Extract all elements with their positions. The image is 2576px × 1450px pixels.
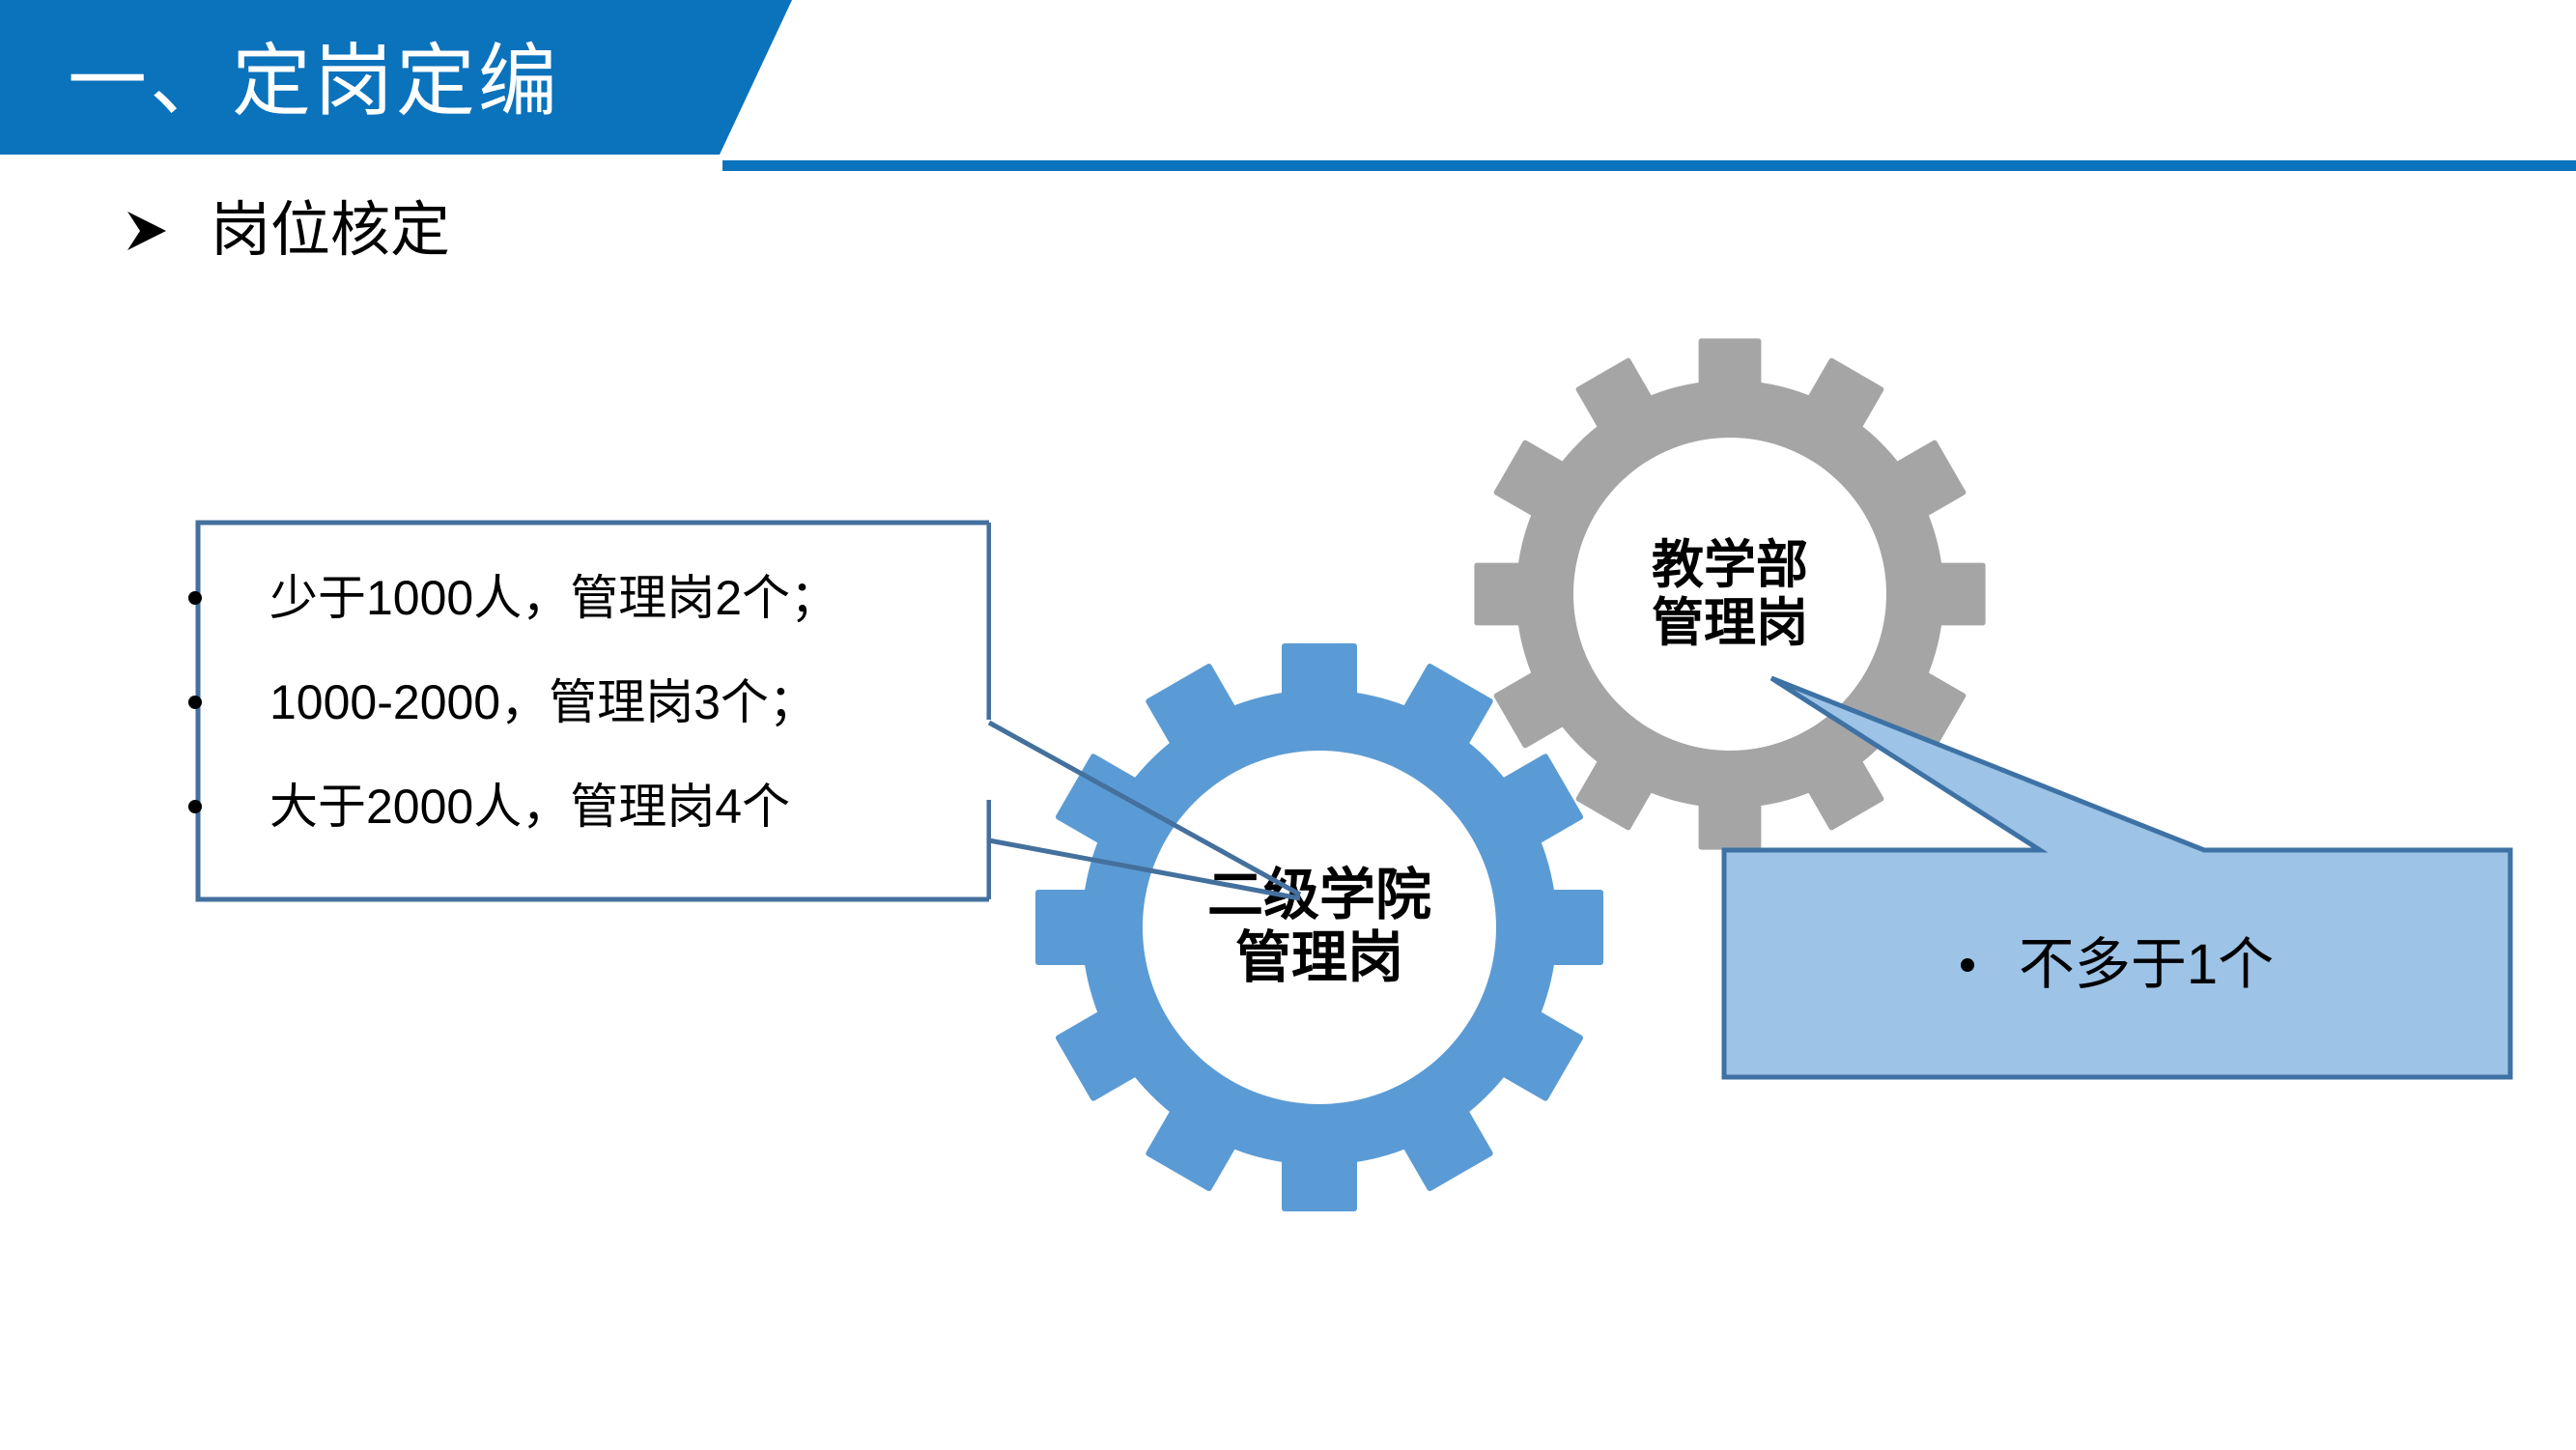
rule-text: 大于2000人，管理岗4个 bbox=[269, 782, 790, 831]
rules-textbox: 少于1000人，管理岗2个； 1000-2000，管理岗3个； 大于2000人，… bbox=[195, 520, 991, 902]
bullet-dot-icon bbox=[188, 800, 202, 813]
rule-text: 1000-2000，管理岗3个； bbox=[269, 678, 817, 726]
subheading-label: 岗位核定 bbox=[211, 201, 450, 261]
subheading-row: 岗位核定 bbox=[124, 201, 450, 261]
header-divider-line bbox=[722, 160, 2576, 171]
list-item: 少于1000人，管理岗2个； bbox=[195, 556, 991, 640]
callout-box: 不多于1个 bbox=[1721, 676, 2513, 1080]
connector-lines bbox=[985, 667, 1304, 956]
callout-shape bbox=[1724, 678, 2510, 1077]
bullet-dot-icon bbox=[188, 591, 202, 605]
rule-text: 少于1000人，管理岗2个； bbox=[269, 574, 838, 622]
bullet-dot-icon bbox=[188, 696, 202, 709]
list-item: 1000-2000，管理岗3个； bbox=[195, 661, 991, 744]
list-item: 大于2000人，管理岗4个 bbox=[195, 765, 991, 848]
arrow-bullet-icon bbox=[124, 209, 168, 253]
rules-list: 少于1000人，管理岗2个； 1000-2000，管理岗3个； 大于2000人，… bbox=[195, 520, 991, 902]
page-title: 一、定岗定编 bbox=[68, 19, 724, 145]
slide-canvas: 一、定岗定编 岗位核定 少于1000人，管理岗2个； 100 bbox=[0, 0, 2576, 1450]
